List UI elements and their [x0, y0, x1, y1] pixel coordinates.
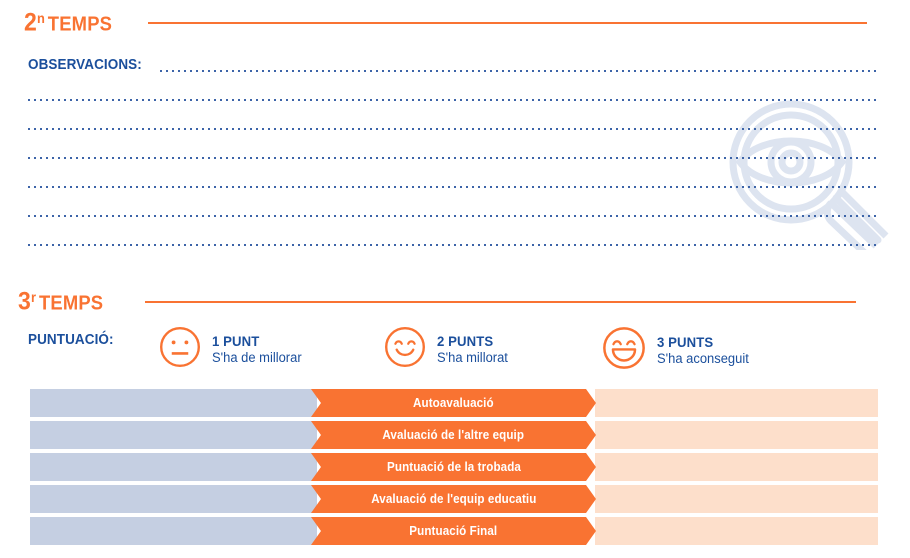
section-two-header: 2nTEMPS [24, 10, 876, 37]
row-chevron-label-container: Autoavaluació [311, 389, 596, 417]
writing-line-6 [28, 215, 878, 217]
neutral-face-icon [158, 325, 202, 374]
writing-line-7 [28, 244, 878, 246]
row-left-cell[interactable] [30, 453, 317, 481]
writing-line-5 [28, 186, 878, 188]
table-row[interactable]: Puntuació de la trobada [30, 453, 878, 481]
section-two-rule [148, 22, 867, 24]
row-left-cell[interactable] [30, 485, 317, 513]
section-three-rule [145, 301, 856, 303]
row-chevron-label-container: Avaluació de l'equip educatiu [311, 485, 596, 513]
score-points-2: 2 PUNTS [437, 333, 506, 349]
row-right-cell[interactable] [595, 517, 878, 545]
row-left-cell[interactable] [30, 421, 317, 449]
puntuacio-label: PUNTUACIÓ: [28, 332, 114, 348]
score-points-1: 1 PUNT [212, 333, 300, 349]
observations-label: OBSERVACIONS: [28, 57, 142, 73]
section-three-title-text: TEMPS [39, 293, 103, 315]
table-row[interactable]: Autoavaluació [30, 389, 878, 417]
writing-line-1 [160, 70, 878, 72]
row-label: Avaluació de l'equip educatiu [371, 492, 536, 506]
row-chevron-label-container: Puntuació de la trobada [311, 453, 596, 481]
row-chevron-label-container: Puntuació Final [311, 517, 596, 545]
score-legend-item-2: 2 PUNTS S'ha millorat [383, 325, 511, 374]
row-label: Puntuació Final [410, 524, 498, 538]
row-right-cell[interactable] [595, 389, 878, 417]
row-right-cell[interactable] [595, 485, 878, 513]
section-two-number: 2 [24, 9, 37, 37]
score-legend-text-3: 3 PUNTS S'ha aconseguit [657, 334, 753, 367]
section-three-number: 3 [18, 288, 31, 316]
row-label: Puntuació de la trobada [387, 460, 521, 474]
score-legend-text-2: 2 PUNTS S'ha millorat [437, 333, 511, 366]
table-row[interactable]: Avaluació de l'equip educatiu [30, 485, 878, 513]
row-left-cell[interactable] [30, 517, 317, 545]
laughing-face-icon [601, 325, 647, 376]
score-legend-item-3: 3 PUNTS S'ha aconseguit [601, 325, 753, 376]
table-row[interactable]: Avaluació de l'altre equip [30, 421, 878, 449]
writing-line-2 [28, 99, 878, 101]
section-two-title: 2nTEMPS [24, 10, 112, 37]
score-description-3: S'ha aconseguit [657, 351, 749, 367]
table-row[interactable]: Puntuació Final [30, 517, 878, 545]
evaluation-rows: Autoavaluació Avaluació de l'altre equip… [30, 389, 878, 549]
section-three-ordinal: r [31, 289, 36, 305]
row-right-cell[interactable] [595, 421, 878, 449]
row-label: Autoavaluació [413, 396, 494, 410]
worksheet-page: 2nTEMPS OBSERVACIONS: [0, 0, 910, 558]
section-three-title: 3rTEMPS [18, 289, 103, 316]
writing-line-4 [28, 157, 878, 159]
section-two-title-text: TEMPS [48, 14, 112, 36]
section-three-header: 3rTEMPS [18, 289, 876, 316]
row-label: Avaluació de l'altre equip [383, 428, 525, 442]
score-legend-item-1: 1 PUNT S'ha de millorar [158, 325, 305, 374]
score-description-2: S'ha millorat [437, 350, 508, 366]
row-right-cell[interactable] [595, 453, 878, 481]
magnifier-eye-icon [718, 100, 898, 250]
row-left-cell[interactable] [30, 389, 317, 417]
score-description-1: S'ha de millorar [212, 350, 302, 366]
score-legend-text-1: 1 PUNT S'ha de millorar [212, 333, 305, 366]
smiling-face-icon [383, 325, 427, 374]
writing-line-3 [28, 128, 878, 130]
section-two-ordinal: n [37, 10, 45, 26]
score-points-3: 3 PUNTS [657, 334, 747, 350]
row-chevron-label-container: Avaluació de l'altre equip [311, 421, 596, 449]
